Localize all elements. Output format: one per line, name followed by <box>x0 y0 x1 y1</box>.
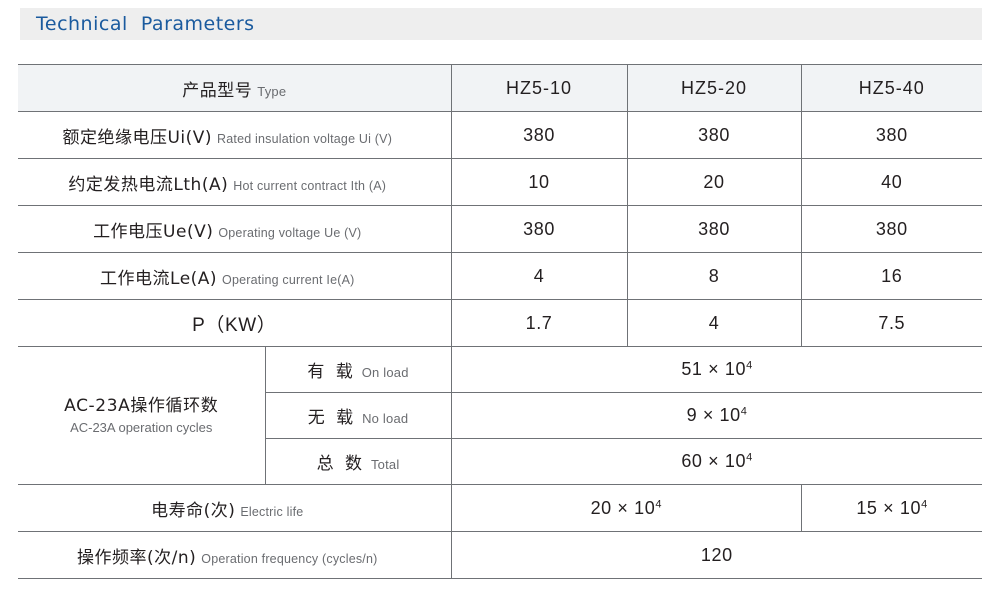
value-text: 10 <box>528 172 549 192</box>
cell-value: 16 <box>801 253 982 300</box>
model-name-1: HZ5-10 <box>506 78 572 98</box>
cell-value: 1.7 <box>451 300 627 347</box>
table-row: 电寿命(次)Electric life 20 × 104 15 × 104 <box>18 485 982 532</box>
table-header-row: 产品型号Type HZ5-10 HZ5-20 HZ5-40 <box>18 65 982 112</box>
cell-value: 380 <box>801 206 982 253</box>
label-cn: 约定发热电流Lth(A) <box>68 175 228 195</box>
value-text: 4 <box>709 313 720 333</box>
ac23a-label-en: AC-23A operation cycles <box>18 419 265 436</box>
model-name-3: HZ5-40 <box>859 78 925 98</box>
header-type-label-cn: 产品型号 <box>182 81 252 101</box>
label-en: Electric life <box>240 505 303 519</box>
header-cell-type: 产品型号Type <box>18 65 451 112</box>
label-en: Hot current contract Ith (A) <box>233 179 386 193</box>
sub-label-en: Total <box>371 457 399 472</box>
sub-row-label-no-load: 无 载No load <box>265 393 451 439</box>
row-label-operating-voltage: 工作电压Ue(V)Operating voltage Ue (V) <box>18 206 451 253</box>
sub-label-cn: 无 载 <box>308 408 356 428</box>
row-label-electric-life: 电寿命(次)Electric life <box>18 485 451 532</box>
technical-parameters-page: Technical Parameters 产品型号Type HZ5-10 HZ5… <box>0 0 1000 593</box>
label-power: P（KW） <box>192 315 276 336</box>
value-text: 380 <box>876 125 908 145</box>
cell-value: 380 <box>451 112 627 159</box>
cell-value: 40 <box>801 159 982 206</box>
label-cn: 操作频率(次/n) <box>77 548 196 568</box>
label-cn: 电寿命(次) <box>151 501 235 521</box>
header-cell-model-1: HZ5-10 <box>451 65 627 112</box>
sub-label-en: On load <box>362 365 409 380</box>
value-text: 15 × 10 <box>856 498 921 518</box>
label-en: Rated insulation voltage Ui (V) <box>217 132 392 146</box>
cell-value: 4 <box>627 300 801 347</box>
sub-label-cn: 总 数 <box>317 454 365 474</box>
section-title-band: Technical Parameters <box>20 8 982 40</box>
cell-value-electric-life-a: 20 × 104 <box>451 485 801 532</box>
row-label-hot-current-contract: 约定发热电流Lth(A)Hot current contract Ith (A) <box>18 159 451 206</box>
value-text: 7.5 <box>878 313 905 333</box>
label-en: Operation frequency (cycles/n) <box>201 552 377 566</box>
value-text: 51 × 10 <box>681 359 746 379</box>
model-name-2: HZ5-20 <box>681 78 747 98</box>
value-exponent: 4 <box>921 498 927 510</box>
value-text: 40 <box>881 172 902 192</box>
sub-row-label-on-load: 有 载On load <box>265 347 451 393</box>
cell-value-total: 60 × 104 <box>451 439 982 485</box>
cell-value-electric-life-b: 15 × 104 <box>801 485 982 532</box>
cell-value: 4 <box>451 253 627 300</box>
ac23a-label-cn: AC-23A操作循环数 <box>18 395 265 417</box>
value-text: 20 × 10 <box>591 498 656 518</box>
sub-label-cn: 有 载 <box>307 362 355 382</box>
cell-value: 8 <box>627 253 801 300</box>
value-text: 380 <box>698 219 730 239</box>
row-label-power: P（KW） <box>18 300 451 347</box>
row-label-operation-frequency: 操作频率(次/n)Operation frequency (cycles/n) <box>18 532 451 579</box>
cell-value-operation-frequency: 120 <box>451 532 982 579</box>
page-title: Technical Parameters <box>36 13 255 35</box>
value-text: 380 <box>698 125 730 145</box>
label-cn: 工作电流Le(A) <box>100 269 217 289</box>
value-text: 8 <box>709 266 720 286</box>
value-text: 60 × 10 <box>681 451 746 471</box>
value-exponent: 4 <box>746 360 752 372</box>
value-text: 380 <box>876 219 908 239</box>
label-cn: 工作电压Ue(V) <box>93 222 213 242</box>
value-text: 120 <box>701 545 733 565</box>
row-label-ac23a-operation-cycles: AC-23A操作循环数 AC-23A operation cycles <box>18 347 265 485</box>
value-text: 380 <box>523 125 555 145</box>
value-text: 20 <box>703 172 724 192</box>
value-exponent: 4 <box>741 406 747 418</box>
table-row: P（KW） 1.7 4 7.5 <box>18 300 982 347</box>
cell-value: 380 <box>451 206 627 253</box>
cell-value: 7.5 <box>801 300 982 347</box>
value-text: 16 <box>881 266 902 286</box>
table-row: 工作电压Ue(V)Operating voltage Ue (V) 380 38… <box>18 206 982 253</box>
technical-parameters-table: 产品型号Type HZ5-10 HZ5-20 HZ5-40 额定绝缘电压Ui(V… <box>18 64 982 579</box>
value-text: 9 × 10 <box>687 405 741 425</box>
value-exponent: 4 <box>746 452 752 464</box>
row-label-rated-insulation-voltage: 额定绝缘电压Ui(V)Rated insulation voltage Ui (… <box>18 112 451 159</box>
cell-value: 380 <box>801 112 982 159</box>
table-row: AC-23A操作循环数 AC-23A operation cycles 有 载O… <box>18 347 982 393</box>
cell-value: 20 <box>627 159 801 206</box>
cell-value: 380 <box>627 206 801 253</box>
table-row: 操作频率(次/n)Operation frequency (cycles/n) … <box>18 532 982 579</box>
value-text: 4 <box>534 266 545 286</box>
table-row: 工作电流Le(A)Operating current Ie(A) 4 8 16 <box>18 253 982 300</box>
header-type-label-en: Type <box>257 84 286 99</box>
cell-value-no-load: 9 × 104 <box>451 393 982 439</box>
cell-value: 10 <box>451 159 627 206</box>
cell-value-on-load: 51 × 104 <box>451 347 982 393</box>
table-row: 约定发热电流Lth(A)Hot current contract Ith (A)… <box>18 159 982 206</box>
header-cell-model-2: HZ5-20 <box>627 65 801 112</box>
sub-row-label-total: 总 数Total <box>265 439 451 485</box>
value-exponent: 4 <box>655 498 661 510</box>
cell-value: 380 <box>627 112 801 159</box>
label-cn: 额定绝缘电压Ui(V) <box>62 128 212 148</box>
label-en: Operating current Ie(A) <box>222 273 354 287</box>
label-en: Operating voltage Ue (V) <box>218 226 361 240</box>
table-row: 额定绝缘电压Ui(V)Rated insulation voltage Ui (… <box>18 112 982 159</box>
row-label-operating-current: 工作电流Le(A)Operating current Ie(A) <box>18 253 451 300</box>
value-text: 1.7 <box>526 313 553 333</box>
value-text: 380 <box>523 219 555 239</box>
header-cell-model-3: HZ5-40 <box>801 65 982 112</box>
sub-label-en: No load <box>362 411 408 426</box>
